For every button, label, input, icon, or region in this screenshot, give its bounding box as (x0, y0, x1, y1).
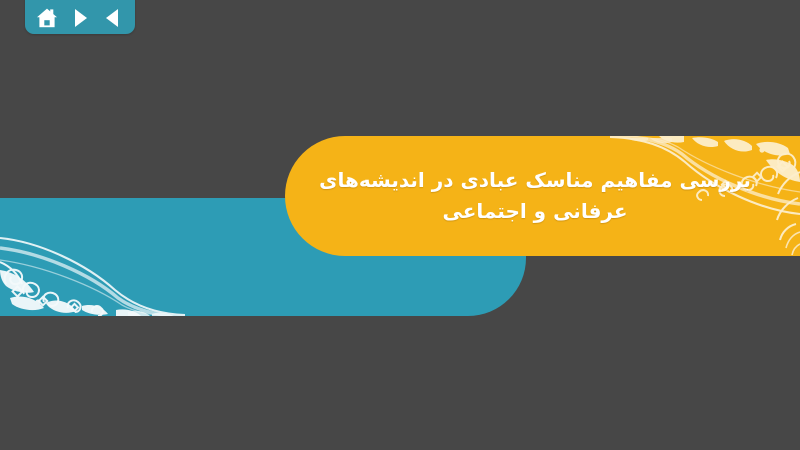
next-icon (69, 7, 91, 29)
home-icon (36, 7, 58, 29)
presentation-slide: بررسی مفاهیم مناسک عبادی در اندیشه‌های ع… (0, 0, 800, 450)
next-button[interactable] (69, 7, 91, 29)
previous-button[interactable] (102, 7, 124, 29)
home-button[interactable] (36, 7, 58, 29)
orange-title-banner (285, 136, 800, 256)
navigation-toolbar[interactable] (25, 0, 135, 34)
orange-arabesque-ornament-icon (610, 136, 800, 256)
teal-arabesque-ornament-icon (0, 198, 185, 316)
previous-icon (102, 7, 124, 29)
